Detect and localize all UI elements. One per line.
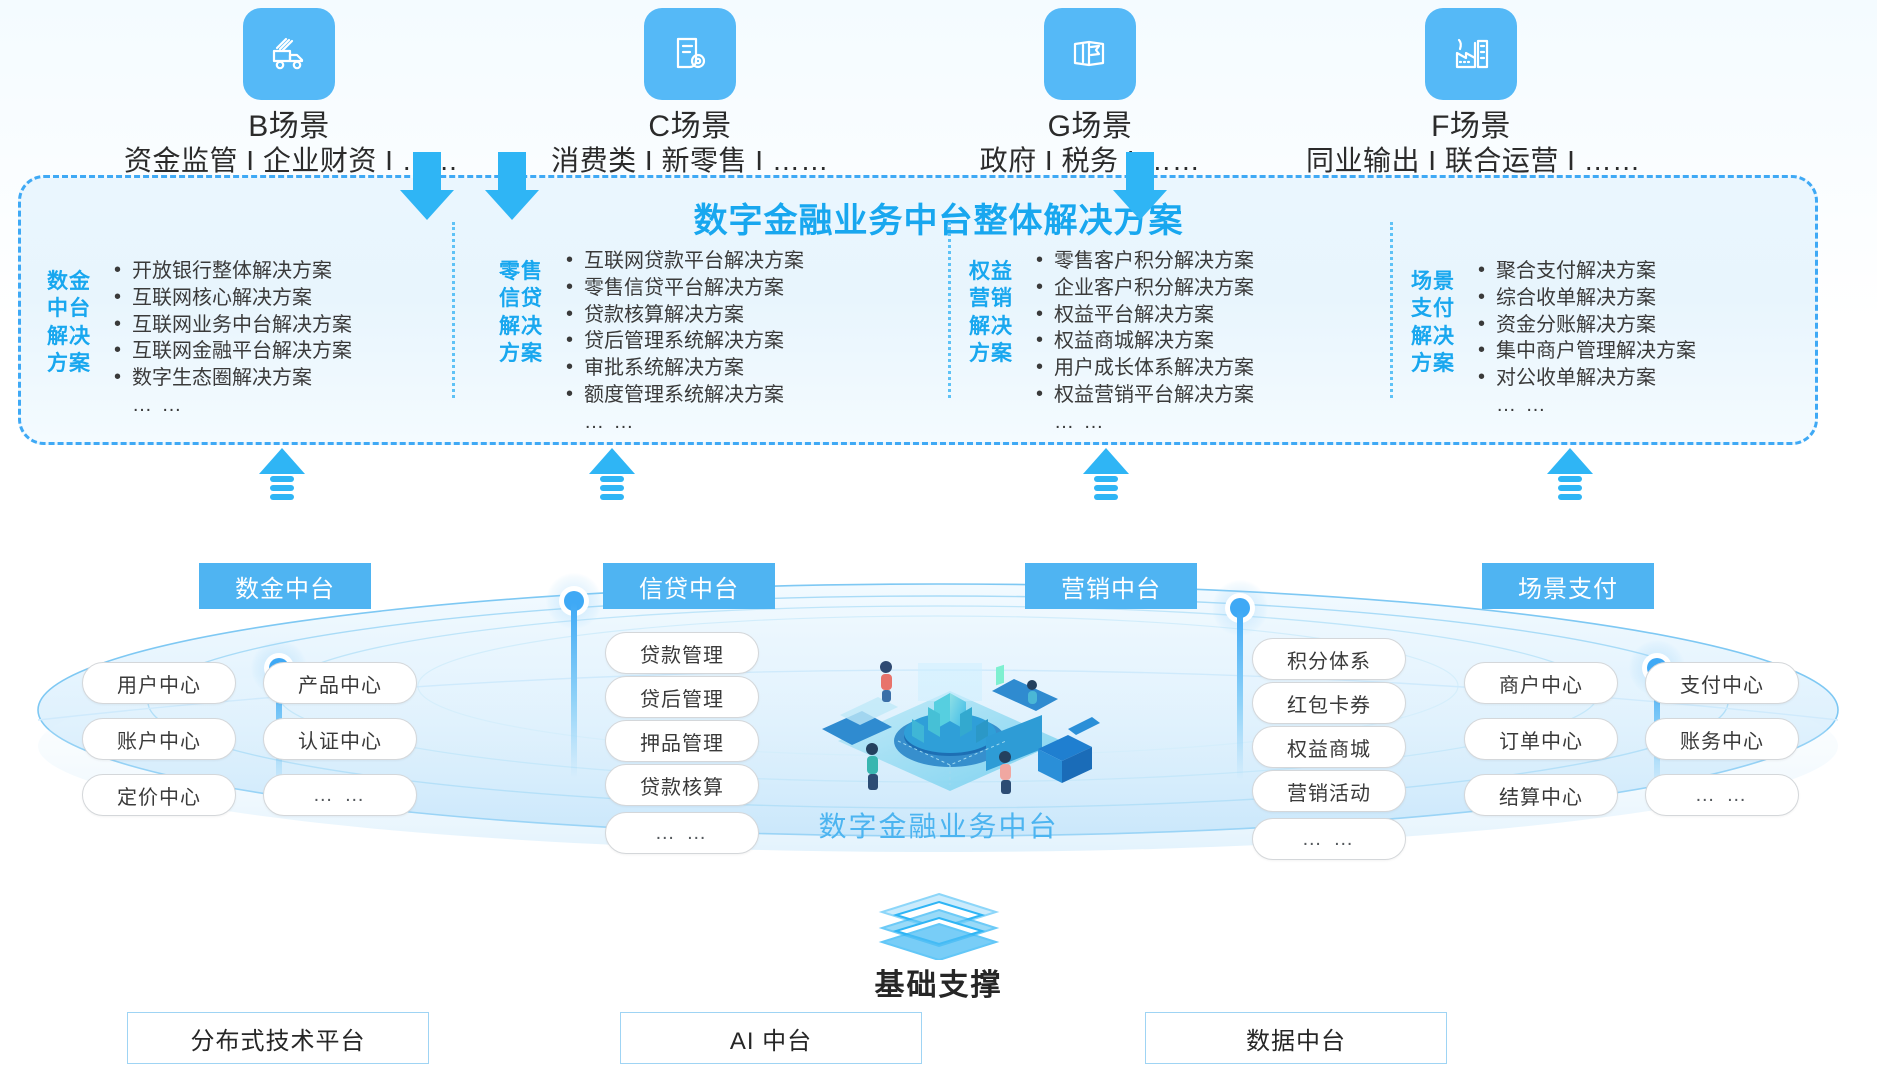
center-platform-label: 数字金融业务中台 xyxy=(0,805,1877,845)
solution-box-title: 数字金融业务中台整体解决方案 xyxy=(0,193,1877,242)
list-item: 零售信贷平台解决方案 xyxy=(564,275,804,302)
list-item: 数字生态圈解决方案 xyxy=(112,365,352,392)
capsule-collateral-management[interactable]: 押品管理 xyxy=(605,720,759,762)
column-divider-1 xyxy=(452,222,455,398)
base-box-ai-platform[interactable]: AI 中台 xyxy=(620,1012,922,1064)
list-item: 用户成长体系解决方案 xyxy=(1034,355,1254,382)
scenario-title: F场景 xyxy=(1306,110,1636,144)
scenario-title: G场景 xyxy=(925,110,1255,144)
list-item: 企业客户积分解决方案 xyxy=(1034,275,1254,302)
map-flag-icon xyxy=(1044,8,1136,100)
column-label: 权益 营销 解决 方案 xyxy=(962,248,1020,367)
column-item-list: 互联网贷款平台解决方案 零售信贷平台解决方案 贷款核算解决方案 贷后管理系统解决… xyxy=(550,248,804,436)
base-box-distributed-tech[interactable]: 分布式技术平台 xyxy=(127,1012,429,1064)
truck-cargo-icon xyxy=(243,8,335,100)
scenario-title: B场景 xyxy=(124,110,454,144)
down-arrow-c xyxy=(485,152,539,218)
capsule-merchant-center[interactable]: 商户中心 xyxy=(1464,662,1618,704)
capsule-accounting-center[interactable]: 账务中心 xyxy=(1645,718,1799,760)
capsule-loan-management[interactable]: 贷款管理 xyxy=(605,632,759,674)
list-item: 互联网金融平台解决方案 xyxy=(112,338,352,365)
capsule-product-center[interactable]: 产品中心 xyxy=(263,662,417,704)
column-label: 数金 中台 解决 方案 xyxy=(40,258,98,377)
list-item: 权益平台解决方案 xyxy=(1034,302,1254,329)
mid-platform-shujin[interactable]: 数金中台 xyxy=(199,563,371,609)
capsule-account-center[interactable]: 账户中心 xyxy=(82,718,236,760)
column-divider-3 xyxy=(1390,222,1393,398)
scenario-subtitle: 政府 I 税务 I …… xyxy=(925,144,1255,177)
column-label: 零售 信贷 解决 方案 xyxy=(492,248,550,367)
capsule-auth-center[interactable]: 认证中心 xyxy=(263,718,417,760)
scenario-subtitle: 消费类 I 新零售 I …… xyxy=(525,144,855,177)
capsule-order-center[interactable]: 订单中心 xyxy=(1464,718,1618,760)
capsule-payment-center[interactable]: 支付中心 xyxy=(1645,662,1799,704)
isometric-platform-illustration xyxy=(800,645,1100,820)
down-arrow-g xyxy=(1113,152,1167,218)
list-item: 权益商城解决方案 xyxy=(1034,328,1254,355)
scenario-title: C场景 xyxy=(525,110,855,144)
list-item: 集中商户管理解决方案 xyxy=(1476,338,1696,365)
column-divider-2 xyxy=(948,222,951,398)
up-arrow-credit xyxy=(589,448,635,508)
up-arrow-shujin xyxy=(259,448,305,508)
list-item: 综合收单解决方案 xyxy=(1476,285,1696,312)
mid-platform-credit[interactable]: 信贷中台 xyxy=(603,563,775,609)
base-support-title: 基础支撑 xyxy=(0,960,1877,1004)
capsule-points-system[interactable]: 积分体系 xyxy=(1252,638,1406,680)
list-item: 互联网核心解决方案 xyxy=(112,285,352,312)
list-item: 权益营销平台解决方案 xyxy=(1034,382,1254,409)
capsule-coupon-redpacket[interactable]: 红包卡券 xyxy=(1252,682,1406,724)
list-item: 开放银行整体解决方案 xyxy=(112,258,352,285)
scenario-f[interactable]: F场景 同业输出 I 联合运营 I …… xyxy=(1306,8,1636,177)
up-arrow-marketing xyxy=(1083,448,1129,508)
column-item-list: 零售客户积分解决方案 企业客户积分解决方案 权益平台解决方案 权益商城解决方案 … xyxy=(1020,248,1254,436)
solution-column-retail-credit: 零售 信贷 解决 方案 互联网贷款平台解决方案 零售信贷平台解决方案 贷款核算解… xyxy=(492,248,804,436)
column-item-list: 开放银行整体解决方案 互联网核心解决方案 互联网业务中台解决方案 互联网金融平台… xyxy=(98,258,352,419)
layers-stack-icon xyxy=(864,888,1014,960)
down-arrow-b xyxy=(400,152,454,218)
list-item: 审批系统解决方案 xyxy=(564,355,804,382)
capsule-loan-accounting[interactable]: 贷款核算 xyxy=(605,764,759,806)
mid-platform-marketing[interactable]: 营销中台 xyxy=(1025,563,1197,609)
list-item: 额度管理系统解决方案 xyxy=(564,382,804,409)
list-item: 资金分账解决方案 xyxy=(1476,312,1696,339)
list-item: 贷款核算解决方案 xyxy=(564,302,804,329)
scenario-g[interactable]: G场景 政府 I 税务 I …… xyxy=(925,8,1255,177)
solution-column-rights-marketing: 权益 营销 解决 方案 零售客户积分解决方案 企业客户积分解决方案 权益平台解决… xyxy=(962,248,1254,436)
solution-column-shujin: 数金 中台 解决 方案 开放银行整体解决方案 互联网核心解决方案 互联网业务中台… xyxy=(40,258,352,419)
base-box-data-platform[interactable]: 数据中台 xyxy=(1145,1012,1447,1064)
capsule-user-center[interactable]: 用户中心 xyxy=(82,662,236,704)
list-item: 聚合支付解决方案 xyxy=(1476,258,1696,285)
factory-icon xyxy=(1425,8,1517,100)
list-ellipsis: … … xyxy=(1034,409,1254,436)
capsule-post-loan-management[interactable]: 贷后管理 xyxy=(605,676,759,718)
column-label: 场景 支付 解决 方案 xyxy=(1404,258,1462,377)
diagram-canvas: B场景 资金监管 I 企业财资 I …… C场景 消费类 I 新零售 I …… … xyxy=(0,0,1877,1070)
list-ellipsis: … … xyxy=(564,409,804,436)
list-item: 互联网业务中台解决方案 xyxy=(112,312,352,339)
scenario-c[interactable]: C场景 消费类 I 新零售 I …… xyxy=(525,8,855,177)
list-ellipsis: … … xyxy=(1476,392,1696,419)
mid-platform-payment[interactable]: 场景支付 xyxy=(1482,563,1654,609)
up-arrow-payment xyxy=(1547,448,1593,508)
list-item: 对公收单解决方案 xyxy=(1476,365,1696,392)
scenario-subtitle: 同业输出 I 联合运营 I …… xyxy=(1306,144,1636,177)
document-seal-icon xyxy=(644,8,736,100)
capsule-rights-mall[interactable]: 权益商城 xyxy=(1252,726,1406,768)
list-ellipsis: … … xyxy=(112,392,352,419)
solution-column-scene-payment: 场景 支付 解决 方案 聚合支付解决方案 综合收单解决方案 资金分账解决方案 集… xyxy=(1404,258,1696,419)
column-item-list: 聚合支付解决方案 综合收单解决方案 资金分账解决方案 集中商户管理解决方案 对公… xyxy=(1462,258,1696,419)
list-item: 零售客户积分解决方案 xyxy=(1034,248,1254,275)
list-item: 互联网贷款平台解决方案 xyxy=(564,248,804,275)
list-item: 贷后管理系统解决方案 xyxy=(564,328,804,355)
